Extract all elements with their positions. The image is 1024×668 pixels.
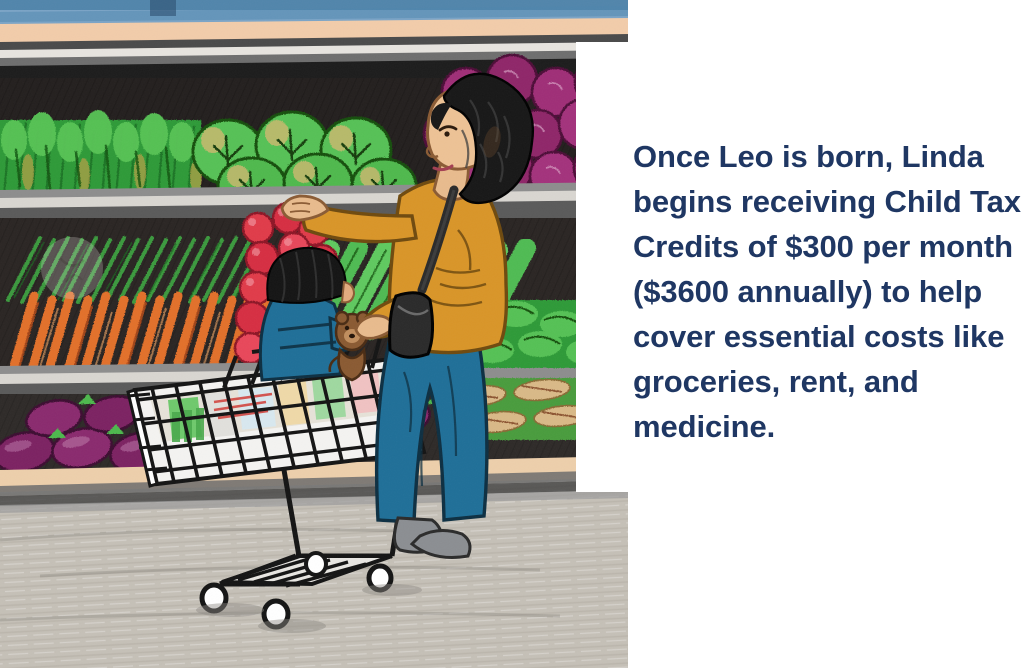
caption-line-7: medicine.: [633, 404, 1024, 449]
caption-text-block: Once Leo is born, Linda begins receiving…: [633, 134, 1024, 449]
slide-canvas: Once Leo is born, Linda begins receiving…: [0, 0, 1024, 668]
caption-line-3: Credits of $300 per month: [633, 224, 1024, 269]
caption-line-5: cover essential costs like: [633, 314, 1024, 359]
illustration-svg: [0, 0, 630, 668]
caption-line-6: groceries, rent, and: [633, 359, 1024, 404]
grocery-store-illustration: [0, 0, 630, 668]
caption-line-1: Once Leo is born, Linda: [633, 134, 1024, 179]
white-top-strip: [628, 0, 1024, 42]
caption-line-4: ($3600 annually) to help: [633, 269, 1024, 314]
caption-line-2: begins receiving Child Tax: [633, 179, 1024, 224]
